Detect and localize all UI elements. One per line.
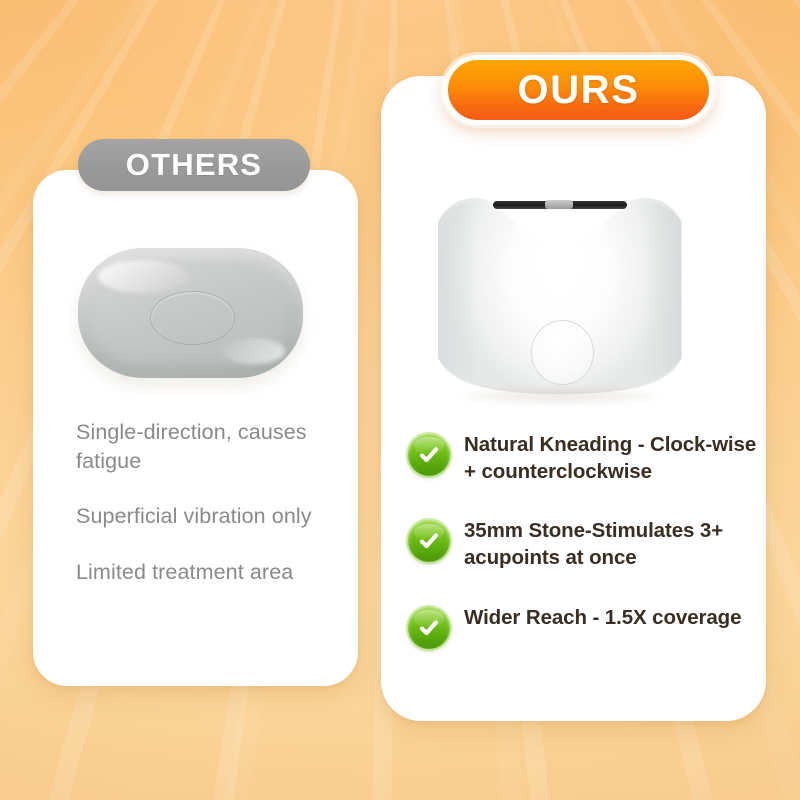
feature-item: 35mm Stone-Stimulates 3+ acupoints at on… bbox=[408, 518, 758, 571]
drawback-item: Limited treatment area bbox=[76, 558, 338, 587]
feature-label: Natural Kneading - Clock-wise + counterc… bbox=[464, 432, 758, 485]
feature-item: Wider Reach - 1.5X coverage bbox=[408, 605, 758, 649]
green-check-icon bbox=[408, 607, 450, 649]
white-device-right-wing-shading bbox=[601, 200, 688, 404]
others-badge: OTHERS bbox=[78, 139, 310, 191]
feature-label: 35mm Stone-Stimulates 3+ acupoints at on… bbox=[464, 518, 758, 571]
ours-badge: OURS bbox=[443, 55, 714, 125]
feature-label: Wider Reach - 1.5X coverage bbox=[464, 605, 741, 632]
green-check-icon bbox=[408, 520, 450, 562]
drawback-item: Superficial vibration only bbox=[76, 502, 338, 531]
others-drawback-list: Single-direction, causes fatigue Superfi… bbox=[76, 418, 338, 586]
gray-device-image bbox=[78, 248, 303, 378]
white-device-drop-shadow bbox=[463, 388, 658, 404]
white-device-center-button bbox=[531, 320, 594, 386]
drawback-item: Single-direction, causes fatigue bbox=[76, 418, 338, 475]
white-device-left-wing-shading bbox=[432, 200, 519, 404]
white-device-image bbox=[432, 186, 688, 398]
gray-device-highlight-bottomright bbox=[222, 338, 285, 364]
white-device-slot-tab bbox=[545, 200, 573, 209]
feature-item: Natural Kneading - Clock-wise + counterc… bbox=[408, 432, 758, 485]
ours-feature-list: Natural Kneading - Clock-wise + counterc… bbox=[408, 432, 758, 649]
comparison-infographic: OTHERS Single-direction, causes fatigue … bbox=[0, 0, 800, 800]
green-check-icon bbox=[408, 434, 450, 476]
gray-device-inner-oval bbox=[150, 291, 235, 345]
